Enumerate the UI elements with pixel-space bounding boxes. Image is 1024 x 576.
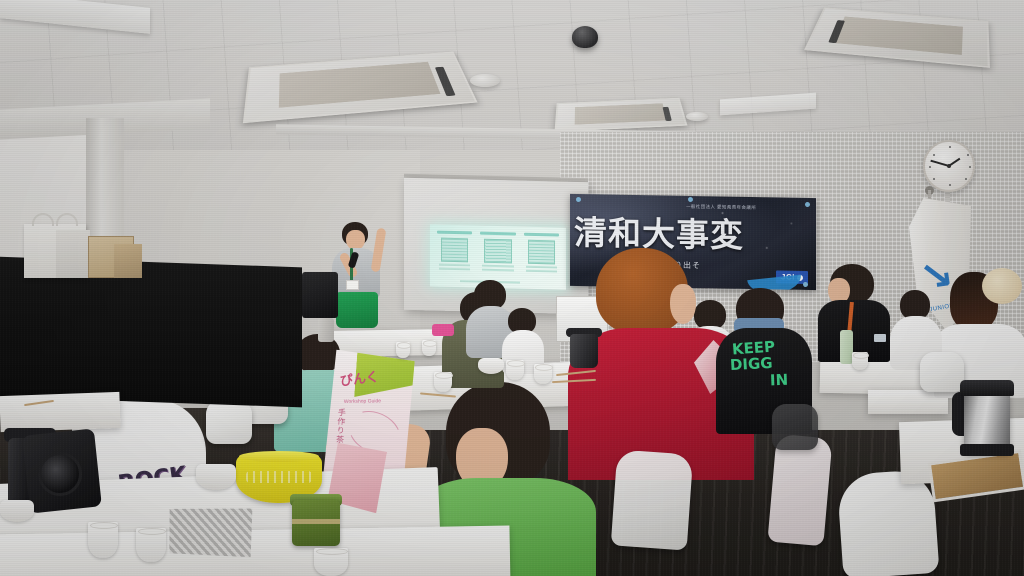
thermos-base	[960, 444, 1014, 456]
paper-cup	[88, 522, 118, 558]
cream-scrunchie	[982, 268, 1022, 304]
pink-tray	[432, 324, 454, 336]
wooden-crate-second	[114, 244, 142, 278]
dome-camera-icon	[572, 26, 598, 48]
white-paper-bag-second	[56, 230, 90, 278]
shirt-text-line3: IN	[770, 374, 789, 388]
banner-organization-text: 一般社団法人 愛知県青年会議所	[686, 204, 756, 211]
smoke-detector-icon	[686, 112, 708, 121]
photo-scene: 一般社団法人 愛知県青年会議所 清和大事変 に創り出そ JCI ↘ JUNIOR…	[0, 0, 1024, 576]
chair[interactable]	[206, 400, 252, 444]
paper-cup	[314, 548, 348, 576]
slide-panel-1	[435, 231, 474, 282]
banner-clip-icon	[688, 197, 693, 202]
chair[interactable]	[920, 352, 964, 392]
black-kettle	[570, 334, 598, 368]
paper-cup	[434, 372, 452, 392]
paper-cup	[422, 340, 436, 356]
presenter-face	[346, 230, 365, 250]
thermos-lid	[960, 380, 1014, 396]
chair[interactable]	[772, 404, 818, 450]
shirt-text-line2: DIGG	[730, 357, 773, 373]
smoke-detector-icon	[470, 74, 500, 87]
av-monitor	[302, 272, 338, 318]
clock-center-pin	[947, 164, 951, 168]
banner-clip-icon	[805, 202, 810, 207]
slide-panel-2	[478, 232, 517, 283]
face	[670, 284, 696, 324]
front-table-lower	[0, 525, 510, 576]
paper-cup	[136, 528, 166, 562]
pamphlet-subtitle: Workshop Guide	[344, 398, 406, 405]
banner-clip-icon	[576, 197, 581, 202]
white-bowl	[196, 464, 236, 490]
dispenser	[318, 318, 334, 342]
paper-cup	[396, 342, 410, 358]
paper-cup	[852, 352, 868, 370]
pamphlet-vertical-text: 手作り茶	[335, 408, 346, 444]
presenter-name-badge	[346, 280, 359, 290]
draped-side-table	[0, 257, 302, 408]
presenter-skirt	[336, 292, 378, 328]
chair[interactable]	[836, 469, 939, 576]
banner-title-text: 清和大事変	[574, 216, 812, 253]
banner-clip-icon	[803, 282, 808, 287]
wall-clock	[923, 140, 975, 192]
slide-panel-3	[522, 233, 561, 284]
projected-slide	[430, 224, 566, 289]
paper-cup	[506, 360, 524, 380]
white-bowl	[0, 500, 34, 522]
green-ceramic-jar	[292, 500, 340, 546]
left-table	[0, 392, 121, 432]
chair[interactable]	[611, 449, 694, 550]
paper-cup	[534, 364, 552, 384]
sleeve-logo	[874, 334, 886, 342]
white-bowl	[478, 358, 504, 374]
chair[interactable]	[767, 434, 832, 546]
